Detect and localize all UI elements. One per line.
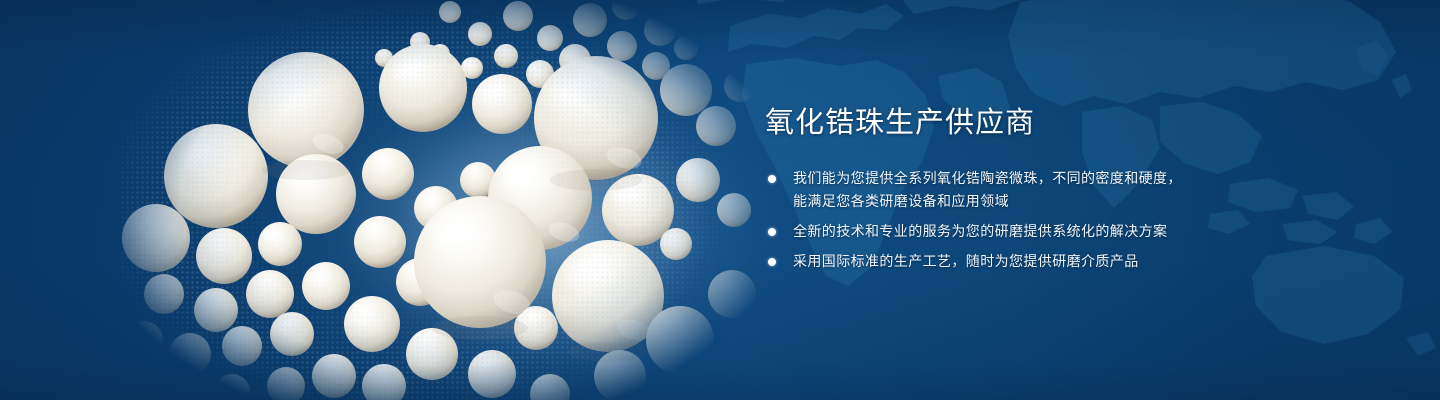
- banner-bullet-item: 我们能为您提供全系列氧化锆陶瓷微珠，不同的密度和硬度， 能满足您各类研磨设备和应…: [765, 167, 1405, 213]
- bullet-line: 能满足您各类研磨设备和应用领域: [793, 190, 1405, 213]
- hero-banner: 氧化锆珠生产供应商 我们能为您提供全系列氧化锆陶瓷微珠，不同的密度和硬度， 能满…: [0, 0, 1440, 400]
- bullet-dot-icon: [768, 228, 776, 236]
- bullet-line: 全新的技术和专业的服务为您的研磨提供系统化的解决方案: [793, 220, 1405, 243]
- halftone-texture: [120, 0, 760, 400]
- banner-bullet-item: 采用国际标准的生产工艺，随时为您提供研磨介质产品: [765, 250, 1405, 273]
- banner-copy: 氧化锆珠生产供应商 我们能为您提供全系列氧化锆陶瓷微珠，不同的密度和硬度， 能满…: [765, 106, 1405, 273]
- bullet-line: 我们能为您提供全系列氧化锆陶瓷微珠，不同的密度和硬度，: [793, 167, 1405, 190]
- bullet-dot-icon: [768, 175, 776, 183]
- banner-bullet-item: 全新的技术和专业的服务为您的研磨提供系统化的解决方案: [765, 220, 1405, 243]
- bullet-line: 采用国际标准的生产工艺，随时为您提供研磨介质产品: [793, 250, 1405, 273]
- banner-headline: 氧化锆珠生产供应商: [765, 106, 1405, 140]
- bullet-dot-icon: [768, 258, 776, 266]
- banner-bullet-list: 我们能为您提供全系列氧化锆陶瓷微珠，不同的密度和硬度， 能满足您各类研磨设备和应…: [765, 167, 1405, 273]
